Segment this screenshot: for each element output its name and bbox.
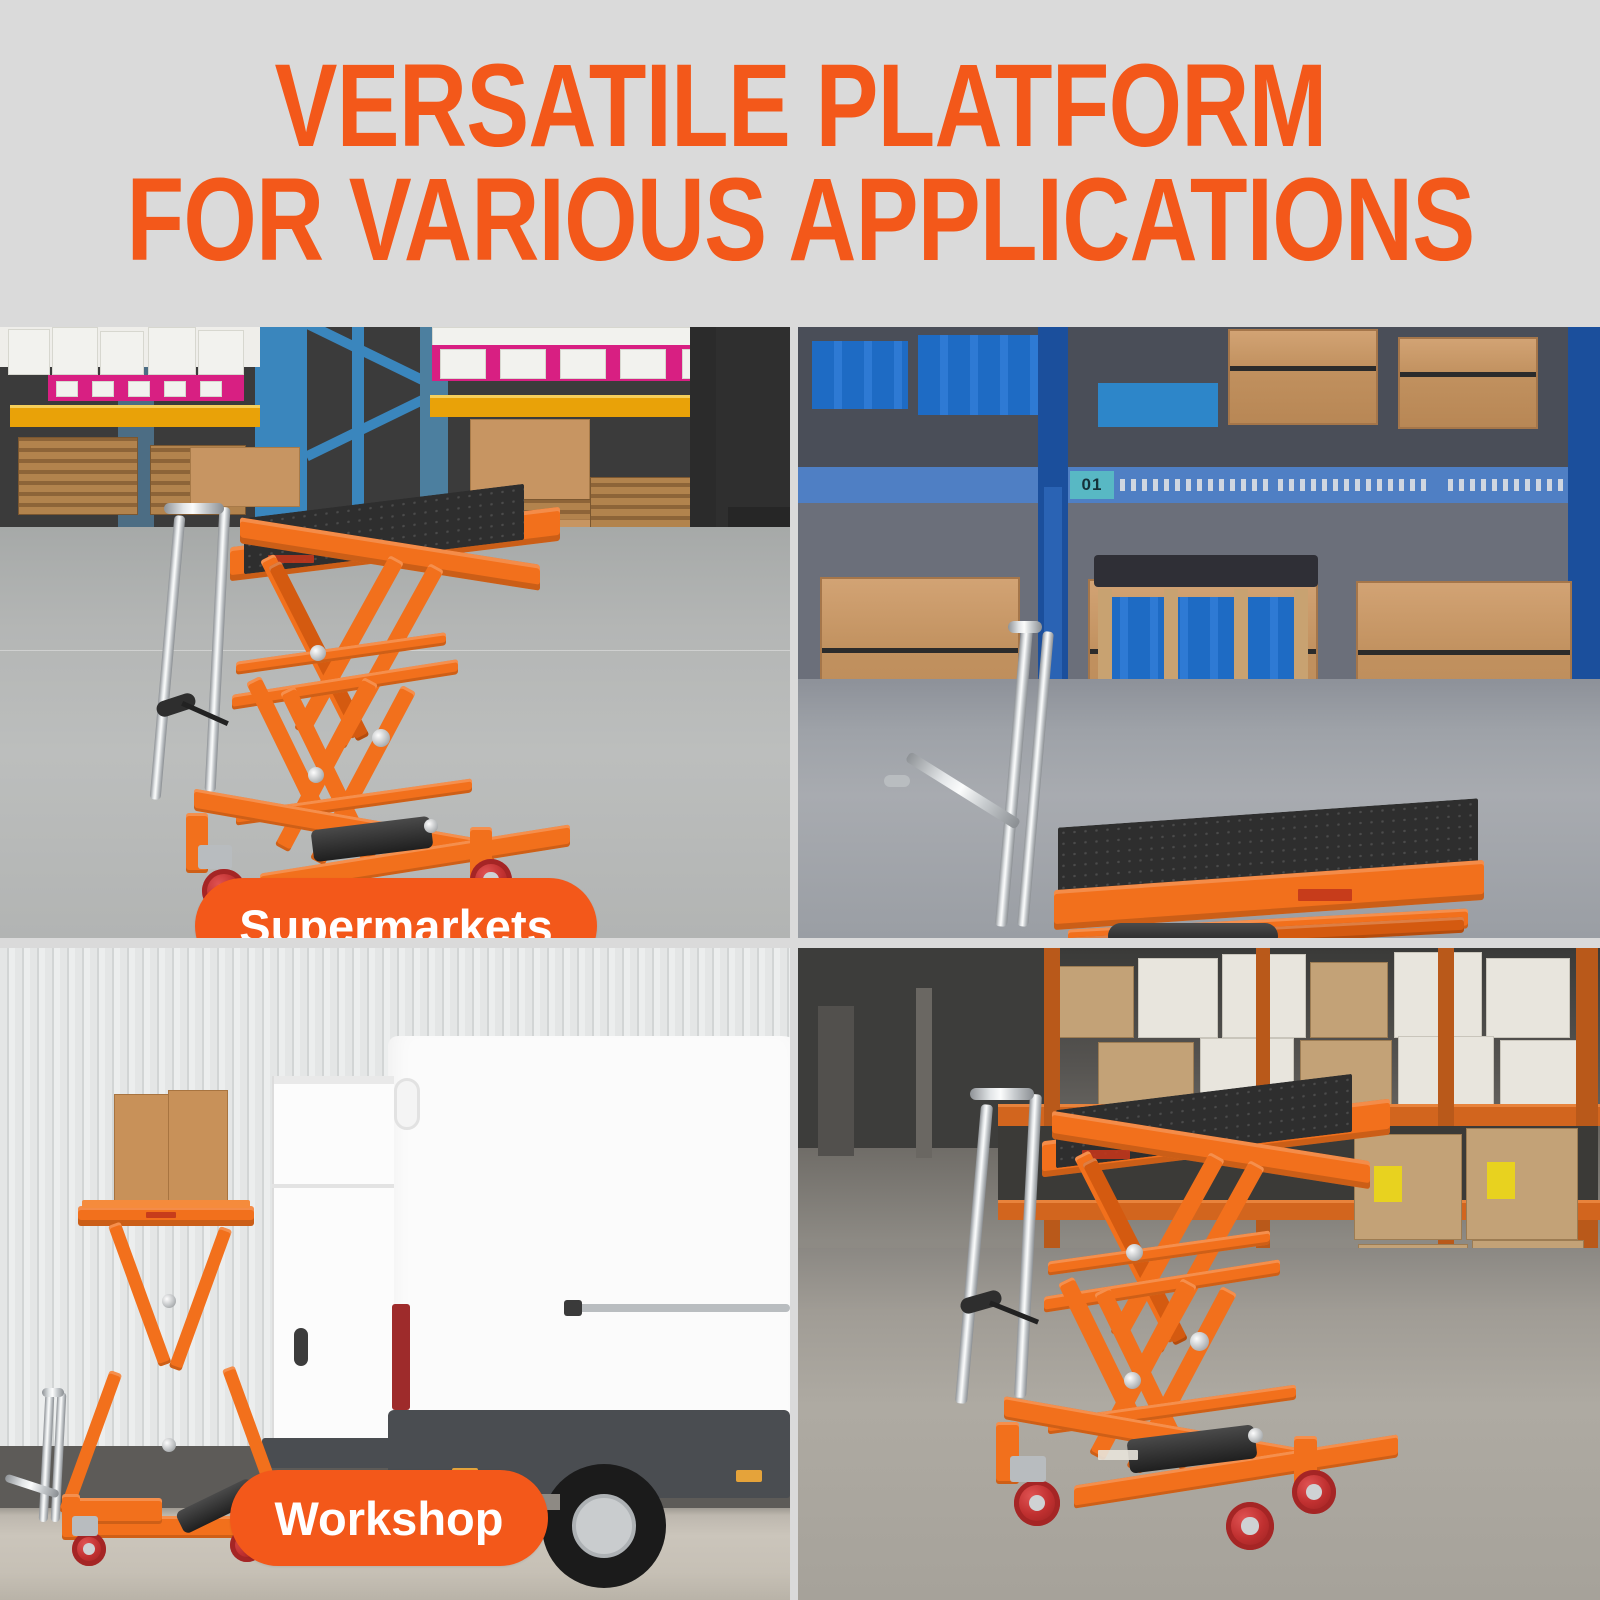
tile-factories[interactable]: 01 <box>798 327 1600 938</box>
photo-supermarket-scene <box>0 327 790 938</box>
scissor-lift-cart <box>948 1078 1468 1548</box>
scissor-lift-cart <box>858 627 1558 917</box>
photo-factory-scene: 01 <box>798 327 1600 938</box>
scissor-lift-cart <box>10 1198 270 1598</box>
header-banner: VERSATILE PLATFORM FOR VARIOUS APPLICATI… <box>0 0 1600 327</box>
application-grid: Supermarkets 01 <box>0 327 1600 1600</box>
photo-warehouse-scene <box>798 948 1600 1600</box>
page-title-line-2: FOR VARIOUS APPLICATIONS <box>126 166 1474 276</box>
aisle-sign-01: 01 <box>1070 471 1114 499</box>
tile-warehouses[interactable]: Warehouses <box>798 948 1600 1600</box>
scissor-lift-cart <box>140 497 640 927</box>
tile-supermarkets[interactable]: Supermarkets <box>0 327 790 938</box>
page-title-line-1: VERSATILE PLATFORM <box>274 52 1326 162</box>
tile-workshop[interactable]: Workshop <box>0 948 790 1600</box>
label-pill-workshop: Workshop <box>230 1470 548 1566</box>
label-pill-supermarkets: Supermarkets <box>195 878 597 938</box>
